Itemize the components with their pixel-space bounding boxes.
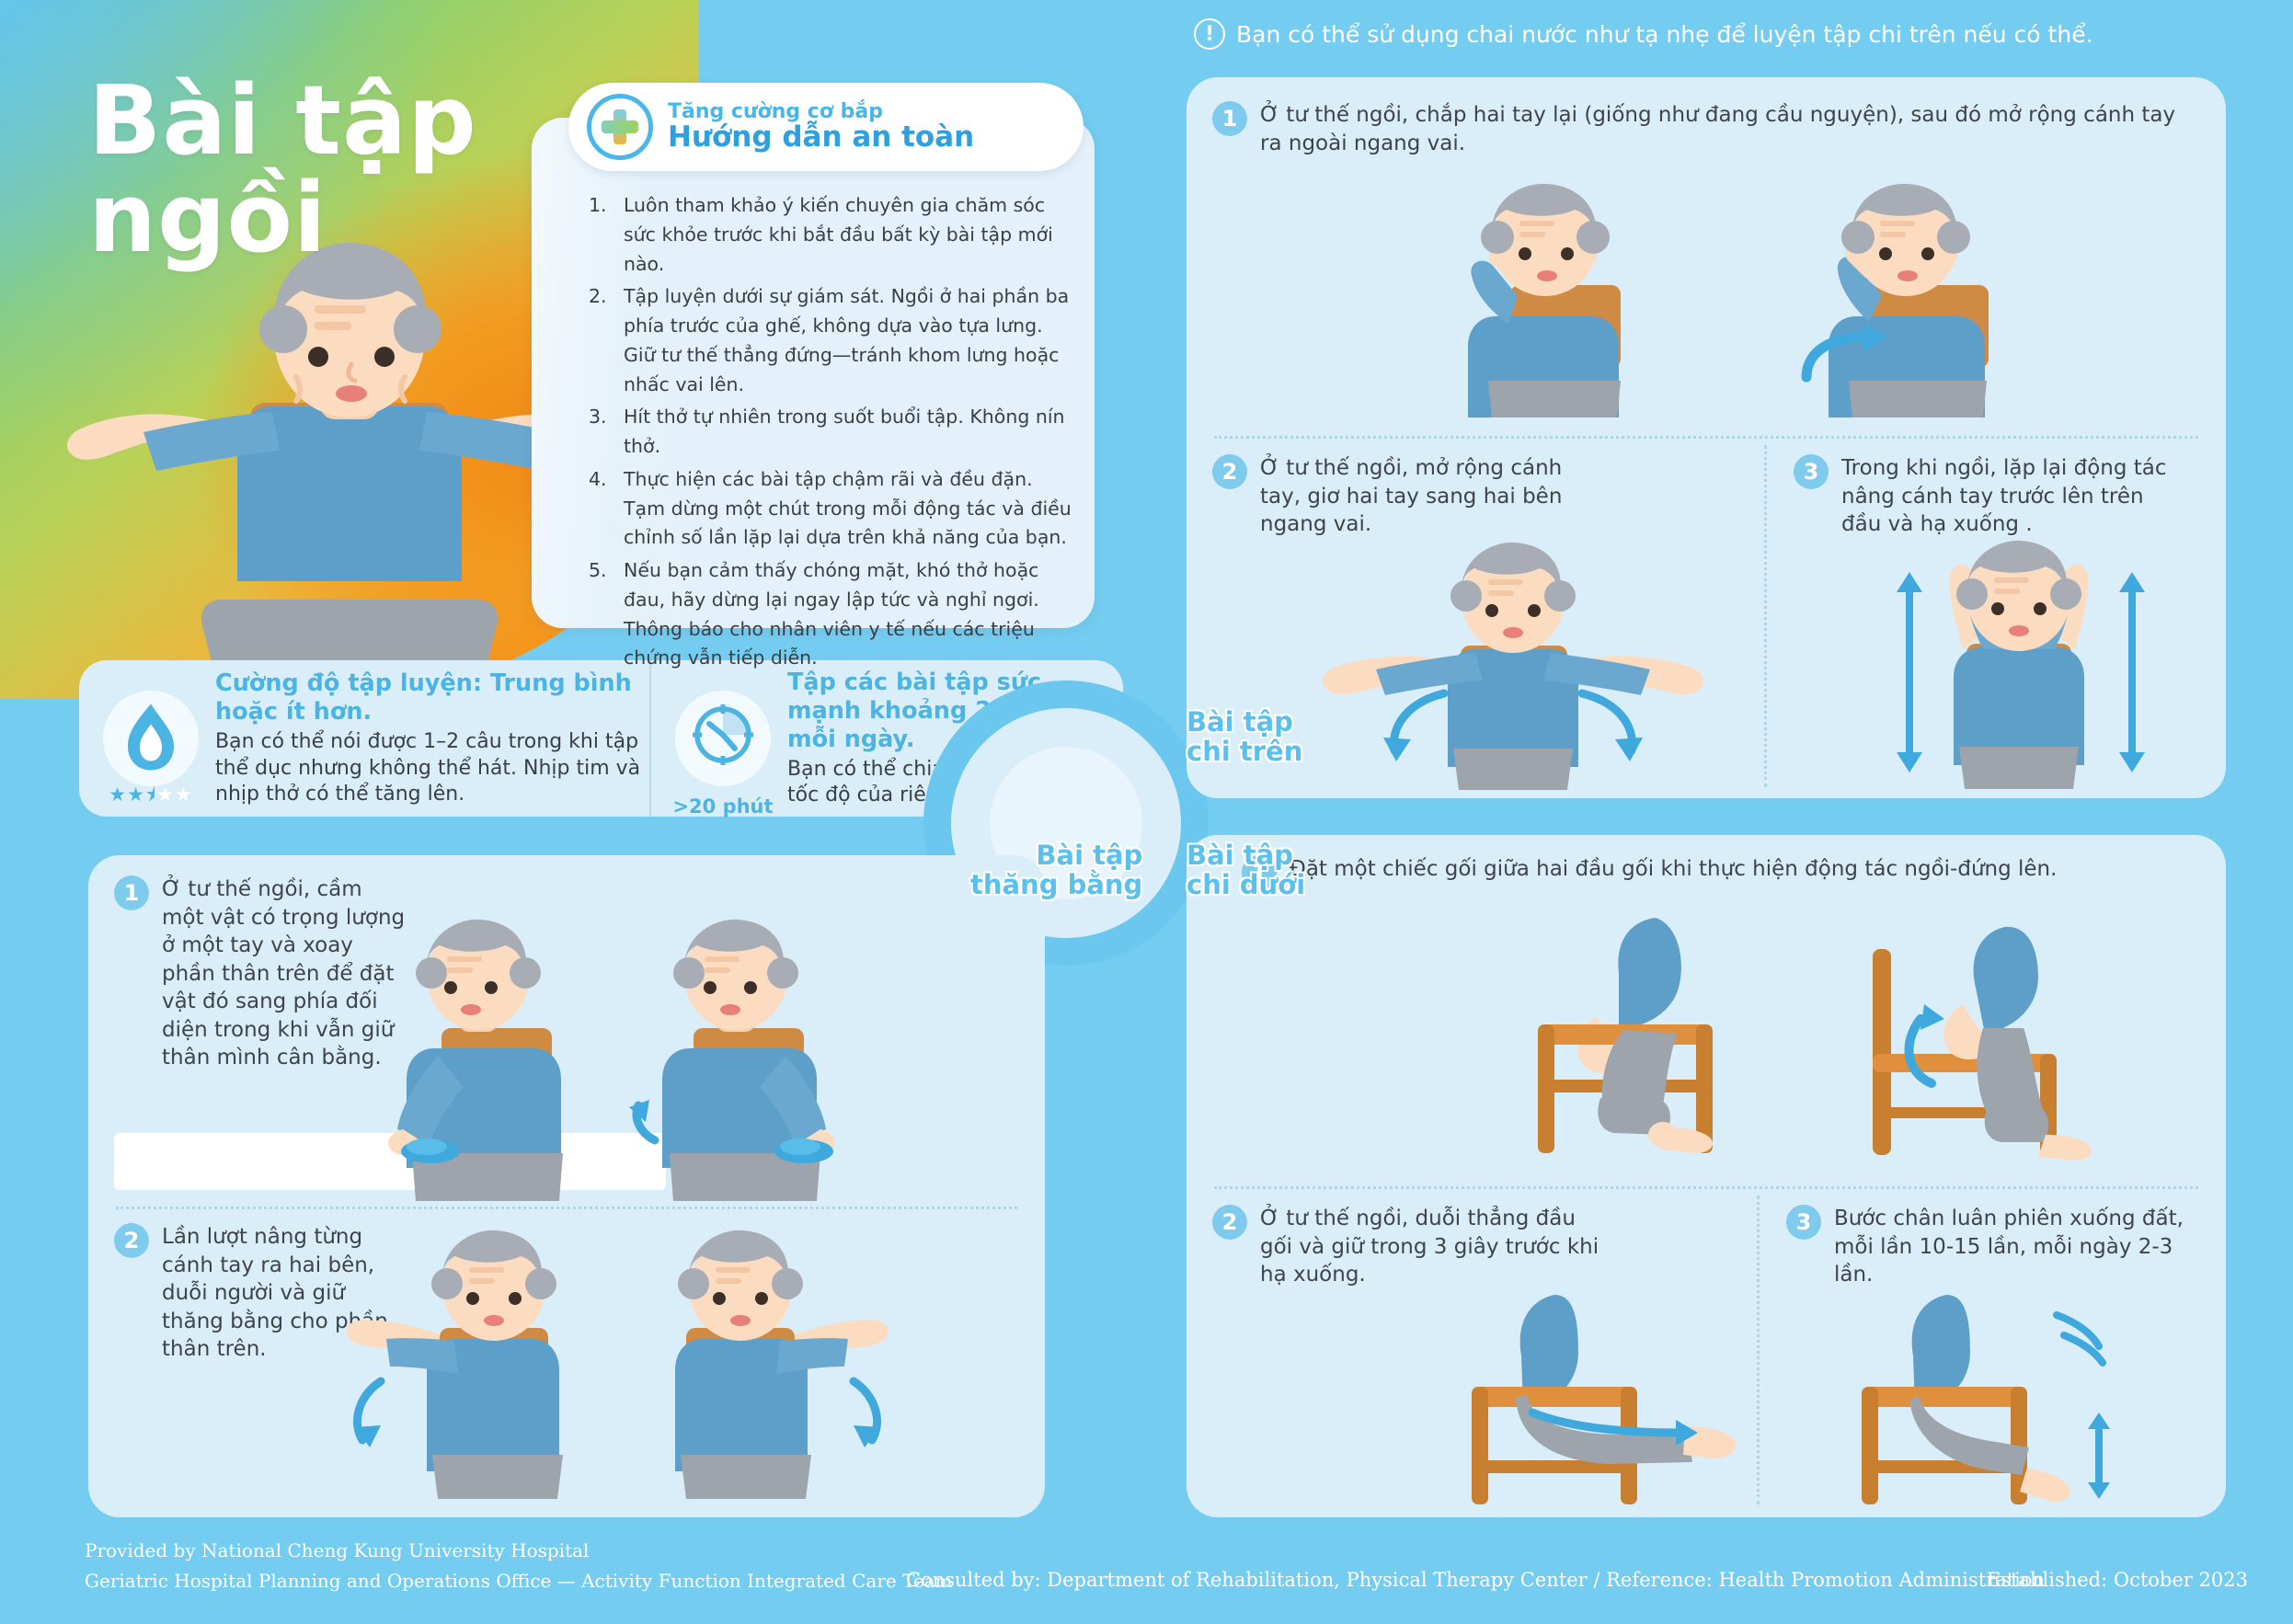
list-item: 2. Tập luyện dưới sự giám sát. Ngồi ở ha… <box>589 282 1076 399</box>
list-item-number: 1. <box>589 191 607 221</box>
upper-limb-step-1: 1 Ở tư thế ngồi, chắp hai tay lại (giống… <box>1212 101 2196 157</box>
flame-icon: ★★⯨★★ <box>103 691 199 786</box>
list-item-number: 3. <box>589 403 607 432</box>
footer: Provided by National Cheng Kung Universi… <box>0 1536 2293 1609</box>
footer-consulted: Consulted by: Department of Rehabilitati… <box>906 1569 2045 1591</box>
list-item: 1. Luôn tham khảo ý kiến chuyên gia chăm… <box>589 191 1076 279</box>
list-item-text: Thực hiện các bài tập chậm rãi và đều đặ… <box>624 468 1072 549</box>
lower-limb-figure-1a <box>1490 909 1794 1175</box>
list-item-number: 5. <box>589 556 607 586</box>
step-text: Bước chân luân phiên xuống đất, mỗi lần … <box>1834 1205 2191 1289</box>
lower-limb-step-1: 1 Đặt một chiếc gối giữa hai đầu gối khi… <box>1242 855 2198 890</box>
list-item: 4. Thực hiện các bài tập chậm rãi và đều… <box>589 465 1076 553</box>
list-item-number: 4. <box>589 465 607 495</box>
list-item-number: 2. <box>589 282 607 312</box>
step-text: Đặt một chiếc gối giữa hai đầu gối khi t… <box>1290 855 2057 890</box>
lower-limb-step-2: 2 Ở tư thế ngồi, duỗi thẳng đầu gối và g… <box>1212 1205 1608 1289</box>
list-item-text: Nếu bạn cảm thấy chóng mặt, khó thở hoặc… <box>624 559 1039 669</box>
balance-figure-1b <box>613 910 889 1214</box>
upper-limb-figure-1a <box>1407 197 1683 417</box>
safety-kicker: Tăng cường cơ bắp <box>668 101 974 122</box>
wheel-label-lower-limb: Bài tậpchi dưới <box>1187 841 1305 900</box>
balance-panel: 1 Ở tư thế ngồi, cầm một vật có trọng lư… <box>88 855 1045 1517</box>
intensity-body: Bạn có thể nói được 1–2 câu trong khi tậ… <box>215 729 649 806</box>
lower-limb-figure-1b <box>1840 909 2143 1175</box>
wheel-label-balance: Bài tậpthăng bằng <box>970 841 1142 900</box>
lower-limb-step-3: 3 Bước chân luân phiên xuống đất, mỗi lầ… <box>1786 1205 2191 1289</box>
clock-icon: >20 phút <box>675 691 771 786</box>
footer-provider: Provided by National Cheng Kung Universi… <box>85 1536 953 1596</box>
list-item-text: Luôn tham khảo ý kiến chuyên gia chăm só… <box>624 194 1053 275</box>
step-text: Ở tư thế ngồi, mở rộng cánh tay, giơ hai… <box>1260 454 1608 539</box>
page-title: Bài tập ngồi <box>88 72 603 267</box>
wheel-label-upper-limb: Bài tậpchi trên <box>1187 708 1302 767</box>
step-text: Trong khi ngồi, lặp lại động tác nâng cá… <box>1841 454 2189 539</box>
safety-guidelines-header: Tăng cường cơ bắp Hướng dẫn an toàn <box>568 83 1083 171</box>
plus-circle-icon <box>587 94 653 160</box>
list-item-text: Tập luyện dưới sự giám sát. Ngồi ở hai p… <box>624 285 1069 395</box>
list-item: 3. Hít thở tự nhiên trong suốt buổi tập.… <box>589 403 1076 462</box>
intensity-stars: ★★⯨★★ <box>109 782 192 814</box>
infographic-page: Bài tập ngồi Tăng cường cơ bắp Hướng dẫn… <box>0 0 2293 1624</box>
page-title-line1: Bài tập <box>88 64 477 177</box>
lower-limb-figure-2 <box>1444 1295 1757 1506</box>
step-number: 3 <box>1794 454 1829 489</box>
balance-divider-horizontal <box>116 1207 1017 1209</box>
intensity-heading: Cường độ tập luyện: Trung bình hoặc ít h… <box>215 669 649 726</box>
balance-figure-1a <box>346 910 622 1214</box>
step-number: 2 <box>114 1223 149 1258</box>
step-number: 1 <box>1212 101 1247 136</box>
step-number: 1 <box>114 875 149 910</box>
balance-figure-2a <box>327 1251 631 1517</box>
water-bottle-warning: ! Bạn có thể sử dụng chai nước như tạ nh… <box>1194 18 2093 50</box>
duration-caption: >20 phút <box>672 795 773 818</box>
list-item-text: Hít thở tự nhiên trong suốt buổi tập. Kh… <box>624 406 1065 457</box>
lower-limb-panel: 1 Đặt một chiếc gối giữa hai đầu gối khi… <box>1187 835 2226 1517</box>
step-number: 2 <box>1212 454 1247 489</box>
upper-limb-step-2: 2 Ở tư thế ngồi, mở rộng cánh tay, giơ h… <box>1212 454 1608 539</box>
page-title-line2: ngồi <box>88 162 327 274</box>
upper-limb-panel: 1 Ở tư thế ngồi, chắp hai tay lại (giống… <box>1187 77 2226 798</box>
lower-limb-divider-horizontal <box>1214 1186 2198 1189</box>
footer-line-2: Geriatric Hospital Planning and Operatio… <box>85 1566 953 1596</box>
step-number: 2 <box>1212 1205 1247 1240</box>
safety-guidelines-list: 1. Luôn tham khảo ý kiến chuyên gia chăm… <box>589 191 1076 677</box>
upper-limb-divider-vertical <box>1764 445 1767 787</box>
step-number: 3 <box>1786 1205 1821 1240</box>
upper-limb-figure-2 <box>1306 546 1720 790</box>
balance-figure-2b <box>613 1251 916 1517</box>
exclamation-circle-icon: ! <box>1194 18 1225 50</box>
intensity-block: ★★⯨★★ Cường độ tập luyện: Trung bình hoặ… <box>79 660 649 817</box>
upper-limb-step-3: 3 Trong khi ngồi, lặp lại động tác nâng … <box>1794 454 2189 539</box>
warning-text: Bạn có thể sử dụng chai nước như tạ nhẹ … <box>1236 21 2093 48</box>
list-item: 5. Nếu bạn cảm thấy chóng mặt, khó thở h… <box>589 556 1076 673</box>
footer-established: Established: October 2023 <box>1987 1569 2248 1591</box>
step-text: Ở tư thế ngồi, chắp hai tay lại (giống n… <box>1260 101 2196 157</box>
footer-line-1: Provided by National Cheng Kung Universi… <box>85 1536 953 1566</box>
step-text: Ở tư thế ngồi, duỗi thẳng đầu gối và giữ… <box>1260 1205 1608 1289</box>
lower-limb-divider-vertical <box>1757 1195 1760 1504</box>
upper-limb-divider-horizontal <box>1214 436 2198 439</box>
safety-title: Hướng dẫn an toàn <box>668 122 974 153</box>
upper-limb-figure-1b <box>1766 197 2060 417</box>
lower-limb-figure-3 <box>1830 1295 2143 1506</box>
upper-limb-figure-3 <box>1867 546 2171 790</box>
